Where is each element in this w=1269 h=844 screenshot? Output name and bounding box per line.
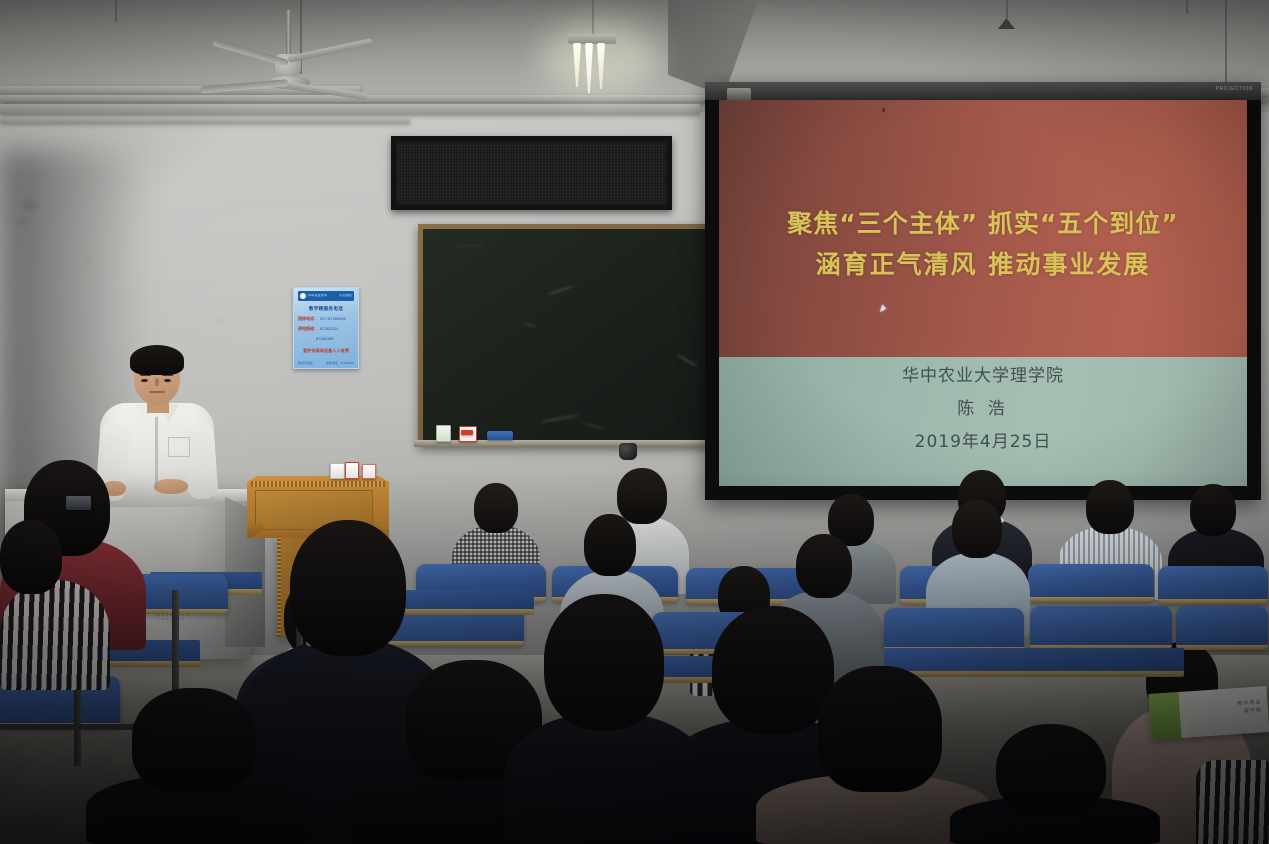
university-logo-icon <box>300 293 306 299</box>
blackboard <box>418 224 710 446</box>
notice-row-value: 87281234 <box>320 326 338 332</box>
chalk-smudge <box>455 245 485 247</box>
audience-head <box>996 724 1106 816</box>
chalk-smudge <box>523 321 537 328</box>
slide-surface: 聚焦“三个主体” 抓实“五个到位” 涵育正气清风 推动事业发展 华中农业大学理学… <box>719 100 1247 486</box>
chalk-smudge <box>583 422 605 429</box>
notice-row-label: 报修电话： <box>298 316 318 322</box>
box-green-band <box>1149 692 1182 740</box>
screen-rail-label: PROJECTION <box>1216 86 1253 92</box>
audience-member <box>86 688 306 844</box>
audience-head <box>544 594 664 730</box>
chair-back[interactable] <box>884 608 1024 652</box>
audience-head <box>132 688 256 794</box>
slide-title-line1: 聚焦“三个主体” 抓实“五个到位” <box>719 204 1247 245</box>
wall-blemish <box>22 200 38 211</box>
slide-title-line2: 涵育正气清风 推动事业发展 <box>719 245 1247 286</box>
box-label-text: 教学用品 理学院 <box>1237 698 1262 716</box>
presenter-shirt-pocket <box>168 437 190 457</box>
box-label-line: 理学院 <box>1238 706 1263 716</box>
notice-fineprint-left: 教学管理处 <box>298 361 313 365</box>
audience-head <box>1086 480 1134 534</box>
fan-rod <box>286 10 291 56</box>
ceiling-beam <box>0 117 410 123</box>
fan-blade <box>212 39 289 67</box>
slide-speck <box>882 108 885 112</box>
ceiling-fan <box>208 10 368 92</box>
pendant-wire <box>1006 0 1008 18</box>
audience-head <box>474 483 518 533</box>
chair-back[interactable] <box>1030 606 1172 650</box>
slide-affiliation: 华中农业大学理学院 <box>719 360 1247 393</box>
chalk-smudge <box>547 285 573 296</box>
audience-member <box>950 724 1160 844</box>
slide-title: 聚焦“三个主体” 抓实“五个到位” 涵育正气清风 推动事业发展 <box>719 204 1247 285</box>
led-dot-matrix <box>398 143 665 203</box>
blackboard-eraser <box>487 431 513 440</box>
audience-head <box>584 514 636 576</box>
audience-head <box>952 500 1002 558</box>
ceiling-seam <box>115 0 117 22</box>
audience-head <box>796 534 852 598</box>
presenter-arm-right <box>183 422 218 500</box>
notice-fineprint: 教学管理处 监督电话：87280000 <box>298 361 354 365</box>
chalk-box <box>330 463 345 479</box>
lectern-trim <box>251 481 385 487</box>
chalk-box <box>345 462 359 479</box>
slide-info-text: 华中农业大学理学院 陈 浩 2019年4月25日 <box>719 360 1247 459</box>
wall-blemish <box>218 320 222 324</box>
slide-presenter: 陈 浩 <box>719 393 1247 426</box>
chalk-box <box>362 464 376 479</box>
presenter-hand-right <box>154 479 188 494</box>
ceiling-beam <box>0 104 700 114</box>
notice-row: 停电报修： 87281234 <box>298 326 354 332</box>
notice-fineprint-right: 监督电话：87280000 <box>326 361 354 365</box>
projection-screen: PROJECTION 聚焦“三个主体” 抓实“五个到位” 涵育正气清风 推动事业… <box>705 82 1261 500</box>
pendant-wire <box>1186 0 1188 14</box>
smartphone[interactable] <box>66 496 91 510</box>
led-display-panel[interactable] <box>391 136 672 210</box>
wall-notice-poster: 华中农业大学 公告通知 教学楼服务电话 报修电话： 027-87280000 停… <box>293 287 359 369</box>
chalk-box-green <box>436 425 451 442</box>
wall-blemish <box>18 218 27 225</box>
screen-top-rail: PROJECTION <box>705 82 1261 100</box>
presenter-mouth <box>149 391 165 393</box>
fan-blade <box>200 79 288 94</box>
paper-box-on-desk[interactable]: 教学用品 理学院 <box>1149 686 1269 740</box>
notice-row-value: 027-87280000 <box>320 316 346 322</box>
slide-date: 2019年4月25日 <box>719 426 1247 459</box>
notice-row-value: 87281109 <box>316 336 334 341</box>
audience-head <box>818 666 942 792</box>
wall-blemish <box>86 258 91 262</box>
presenter-eye <box>141 379 148 382</box>
audience-member <box>1196 760 1269 844</box>
audience-member <box>0 520 110 690</box>
presenter-shirt-placket <box>155 417 158 489</box>
audience-head <box>1190 484 1236 536</box>
audience-shirt <box>0 580 110 690</box>
notice-row-label: 停电报修： <box>298 326 318 332</box>
notice-row: 87281109 <box>298 336 354 341</box>
chair-back[interactable] <box>1158 566 1268 604</box>
lamp-housing <box>568 34 616 44</box>
presenter-eye <box>164 379 171 382</box>
chalk-smudge <box>676 353 698 368</box>
audience-head <box>290 520 406 656</box>
notice-title: 教学楼服务电话 <box>298 306 354 312</box>
notice-header-right: 公告通知 <box>339 294 352 297</box>
chalk-smudge <box>541 414 579 424</box>
audience-head <box>0 520 62 594</box>
notice-header-text: 华中农业大学 <box>308 294 327 297</box>
blackboard-surface <box>423 229 705 441</box>
presenter-hair <box>130 345 184 375</box>
chair-back[interactable] <box>1176 606 1268 650</box>
notice-row: 报修电话： 027-87280000 <box>298 316 354 322</box>
notice-footer: 爱护多媒体设备人人有责 <box>298 348 354 354</box>
chair-back[interactable] <box>1028 564 1154 602</box>
chalk-box-red-label <box>461 430 473 435</box>
lecture-hall-photo: 华中农业大学 公告通知 教学楼服务电话 报修电话： 027-87280000 停… <box>0 0 1269 844</box>
wall-speaker-icon <box>619 443 637 460</box>
presenter-nose <box>155 378 159 386</box>
fan-blade <box>287 38 373 63</box>
notice-header-bar: 华中农业大学 公告通知 <box>298 291 354 301</box>
